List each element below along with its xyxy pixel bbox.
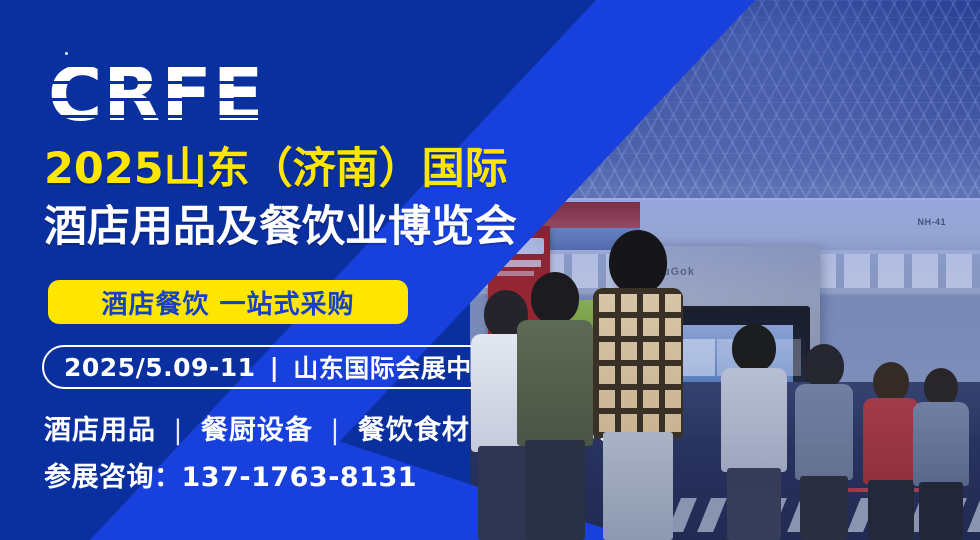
contact-line: 参展咨询：137-1763-8131 [44, 455, 417, 494]
visitor-figure [516, 272, 594, 540]
category-item-2: 餐饮食材 [358, 415, 470, 446]
category-separator: | [323, 415, 347, 446]
date-venue-separator: | [256, 353, 294, 382]
exhibition-promo-banner: NH-41 uP NuGok [0, 0, 980, 540]
banner-title-line-1: 2025山东（济南）国际 [44, 148, 508, 191]
decorative-dot [65, 52, 68, 55]
crfe-logo-text: CRFE [48, 58, 264, 132]
visitor-figure-foreground [592, 230, 684, 540]
event-venue: 山东国际会展中心 [293, 349, 497, 385]
category-item-1: 餐厨设备 [201, 415, 313, 446]
event-date: 2025/5.09-11 [64, 353, 256, 382]
slogan-badge: 酒店餐饮 一站式采购 [48, 280, 408, 324]
category-item-0: 酒店用品 [44, 415, 156, 446]
slogan-badge-label: 酒店餐饮 一站式采购 [101, 284, 354, 321]
category-separator: | [166, 415, 190, 446]
banner-title-line-2: 酒店用品及餐饮业博览会 [44, 206, 517, 249]
